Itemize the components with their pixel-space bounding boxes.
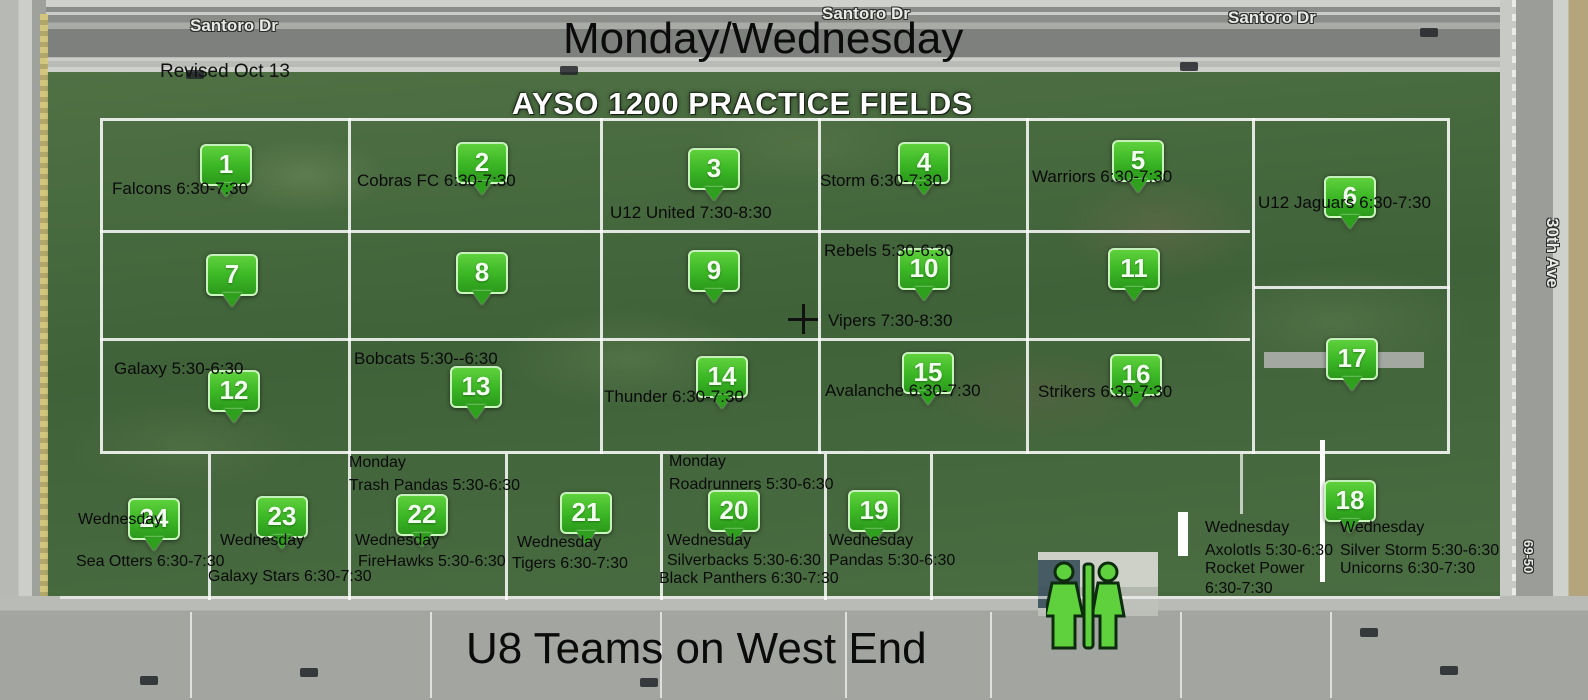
pin-tip — [472, 291, 492, 305]
chalk-line-v — [1026, 118, 1029, 454]
chalk-line-h — [100, 230, 1250, 233]
field-sign-title: AYSO 1200 PRACTICE FIELDS — [512, 86, 973, 122]
bottom-caption: U8 Teams on West End — [466, 625, 927, 673]
field-team-label: Thunder 6:30-7:30 — [604, 386, 744, 407]
map-pin-8[interactable]: 8 — [456, 252, 508, 304]
u8-team-line: Sea Otters 6:30-7:30 — [76, 552, 225, 572]
chalk-line-h — [1254, 286, 1450, 289]
u8-team-line: Silverbacks 5:30-6:30 — [667, 551, 821, 571]
u8-team-line: Trash Pandas 5:30-6:30 — [349, 476, 520, 496]
restroom-icon — [1046, 560, 1132, 652]
parking-stripe — [190, 612, 192, 698]
map-pin-9[interactable]: 9 — [688, 250, 740, 302]
pin-number: 23 — [256, 496, 308, 536]
u8-team-line: Tigers 6:30-7:30 — [512, 554, 628, 574]
parked-car — [560, 66, 578, 75]
field-team-label: Avalanche 6:30-7:30 — [825, 380, 981, 401]
chalk-line-v — [1240, 454, 1243, 514]
parked-car — [1360, 628, 1378, 637]
field-team-label: Rebels 5:30-6:30 — [824, 240, 953, 261]
practice-fields-map: Santoro Dr Santoro Dr Santoro Dr 30th Av… — [0, 0, 1588, 700]
map-pin-17[interactable]: 17 — [1326, 338, 1378, 390]
parked-car — [300, 668, 318, 677]
pin-tip — [222, 293, 242, 307]
chalk-line-h — [100, 338, 1250, 341]
u8-team-line: 6:30-7:30 — [1205, 579, 1273, 599]
field-team-label: Vipers 7:30-8:30 — [828, 310, 952, 331]
u8-team-line: Rocket Power — [1205, 559, 1305, 579]
field-team-label: Strikers 6:30-7:30 — [1038, 381, 1172, 402]
chalk-line-h — [60, 596, 1500, 599]
u8-team-line: Wednesday — [220, 531, 304, 551]
street-label-santoro-1: Santoro Dr — [190, 16, 278, 36]
parked-car — [1180, 62, 1198, 71]
pin-number: 9 — [688, 250, 740, 290]
pin-tip — [914, 287, 934, 301]
field-team-label: Warriors 6:30-7:30 — [1032, 166, 1172, 187]
u8-team-line: Monday — [349, 453, 406, 473]
pin-tip — [704, 289, 724, 303]
pin-tip — [224, 409, 244, 423]
parked-car — [1420, 28, 1438, 37]
road-dashed-line — [1512, 0, 1516, 700]
u8-team-line: Wednesday — [355, 531, 439, 551]
street-label-santoro-3: Santoro Dr — [1228, 8, 1316, 28]
u8-team-line: Wednesday — [667, 531, 751, 551]
parked-car — [140, 676, 158, 685]
pin-number: 21 — [560, 492, 612, 532]
field-team-label: Storm 6:30-7:30 — [820, 170, 942, 191]
pin-number: 13 — [450, 366, 502, 406]
pin-tip — [1124, 287, 1144, 301]
pin-number: 18 — [1324, 480, 1376, 520]
u8-team-line: Monday — [669, 452, 726, 472]
pin-tip — [144, 537, 164, 551]
pin-tip — [466, 405, 486, 419]
pin-number: 19 — [848, 490, 900, 530]
u8-team-line: Roadrunners 5:30-6:30 — [669, 475, 834, 495]
field-team-label: Cobras FC 6:30-7:30 — [357, 170, 516, 191]
page-title: Monday/Wednesday — [563, 15, 963, 63]
u8-team-line: Wednesday — [1340, 518, 1424, 538]
street-label-right-lower: 69-50 — [1521, 540, 1536, 573]
field-team-label: U12 United 7:30-8:30 — [610, 202, 772, 223]
field-divider-post — [1178, 512, 1188, 556]
pin-number: 11 — [1108, 248, 1160, 288]
pin-number: 22 — [396, 494, 448, 534]
pin-number: 20 — [708, 490, 760, 530]
u8-team-line: FireHawks 5:30-6:30 — [358, 552, 506, 572]
field-grid-outline — [100, 118, 1450, 454]
pin-tip — [704, 187, 724, 201]
map-pin-11[interactable]: 11 — [1108, 248, 1160, 300]
u8-team-line: Wednesday — [78, 510, 162, 530]
map-pin-7[interactable]: 7 — [206, 254, 258, 306]
pin-number: 8 — [456, 252, 508, 292]
chalk-line-v — [930, 454, 933, 600]
u8-team-line: Wednesday — [517, 533, 601, 553]
parking-stripe — [1180, 612, 1182, 698]
pin-tip — [1342, 377, 1362, 391]
pin-number: 7 — [206, 254, 258, 294]
u8-team-line: Wednesday — [1205, 518, 1289, 538]
field-team-label: U12 Jaguars 6:30-7:30 — [1258, 192, 1431, 213]
pin-tip — [1340, 215, 1360, 229]
parked-car — [640, 678, 658, 687]
crosshair-marker — [788, 304, 818, 334]
map-pin-13[interactable]: 13 — [450, 366, 502, 418]
parked-car — [1440, 666, 1458, 675]
u8-team-line: Unicorns 6:30-7:30 — [1340, 559, 1475, 579]
u8-team-line: Black Panthers 6:30-7:30 — [659, 569, 839, 589]
u8-team-line: Silver Storm 5:30-6:30 — [1340, 541, 1499, 561]
u8-team-line: Wednesday — [829, 531, 913, 551]
u8-team-line: Pandas 5:30-6:30 — [829, 551, 955, 571]
field-team-label: Falcons 6:30-7:30 — [112, 178, 248, 199]
field-team-label: Bobcats 5:30--6:30 — [354, 348, 498, 369]
map-pin-3[interactable]: 3 — [688, 148, 740, 200]
parking-stripe — [430, 612, 432, 698]
parking-stripe — [1330, 612, 1332, 698]
chalk-line-v — [818, 118, 821, 454]
chalk-line-v — [1252, 118, 1255, 454]
u8-team-line: Galaxy Stars 6:30-7:30 — [208, 567, 372, 587]
pin-number: 3 — [688, 148, 740, 188]
u8-team-line: Axolotls 5:30-6:30 — [1205, 541, 1333, 561]
field-team-label: Galaxy 5:30-6:30 — [114, 358, 243, 379]
chalk-line-v — [600, 118, 603, 454]
revised-note: Revised Oct 13 — [160, 61, 290, 83]
parking-stripe — [990, 612, 992, 698]
street-label-30th-ave: 30th Ave — [1542, 218, 1562, 288]
pin-number: 17 — [1326, 338, 1378, 378]
chalk-line-v — [348, 118, 351, 454]
curb-marking — [40, 14, 48, 674]
